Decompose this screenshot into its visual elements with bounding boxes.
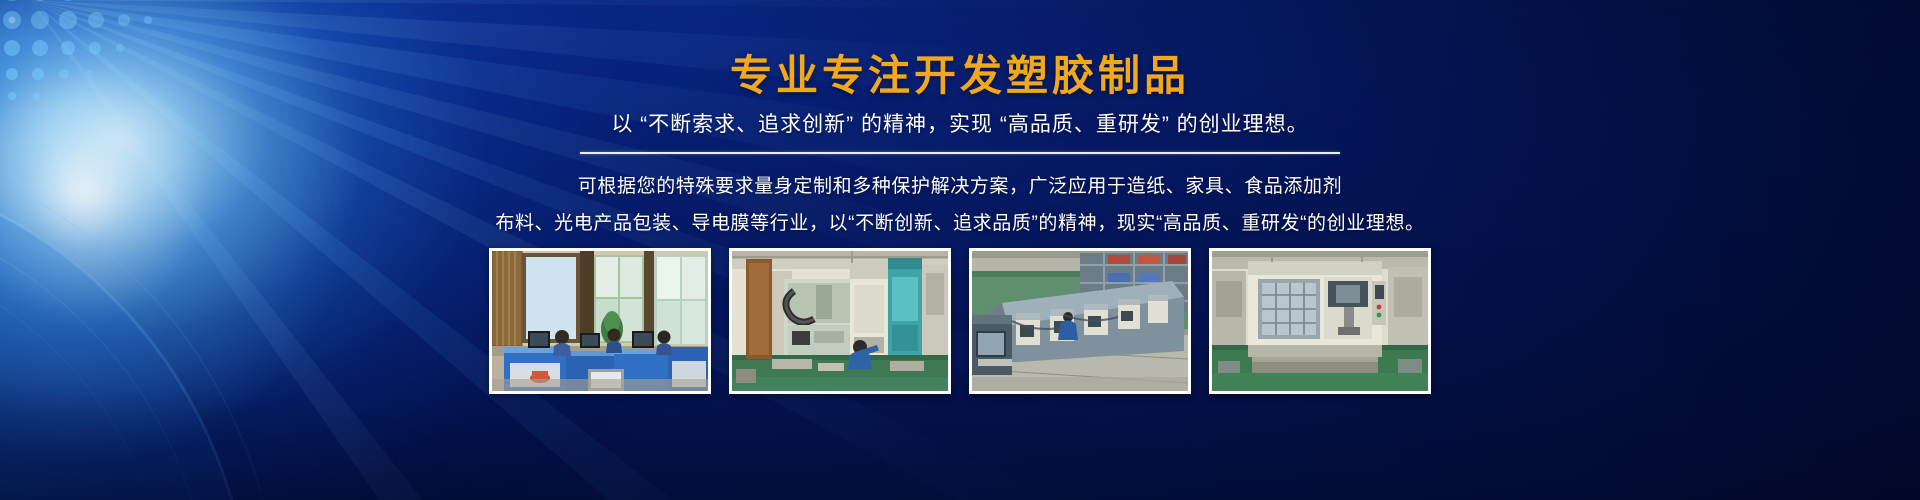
promo-banner: 专业专注开发塑胶制品 以 “不断索求、追求创新” 的精神，实现 “高品质、重研发…	[0, 0, 1920, 500]
photo-office-workstations[interactable]	[489, 248, 711, 394]
banner-subtitle: 以 “不断索求、追求创新” 的精神，实现 “高品质、重研发” 的创业理想。	[0, 108, 1920, 138]
horizontal-divider	[580, 152, 1340, 154]
banner-body-line-2: 布料、光电产品包装、导电膜等行业，以“不断创新、追求品质”的精神，现实“高品质、…	[0, 208, 1920, 235]
photo-cnc-workshop[interactable]	[729, 248, 951, 394]
banner-body-line-1: 可根据您的特殊要求量身定制和多种保护解决方案，广泛应用于造纸、家具、食品添加剂	[0, 171, 1920, 198]
photo-cnc-engraving-machine[interactable]	[1209, 248, 1431, 394]
photo-injection-molding-line[interactable]	[969, 248, 1191, 394]
factory-photo-strip	[489, 248, 1431, 394]
banner-content: 专业专注开发塑胶制品 以 “不断索求、追求创新” 的精神，实现 “高品质、重研发…	[0, 0, 1920, 500]
banner-title: 专业专注开发塑胶制品	[0, 42, 1920, 103]
